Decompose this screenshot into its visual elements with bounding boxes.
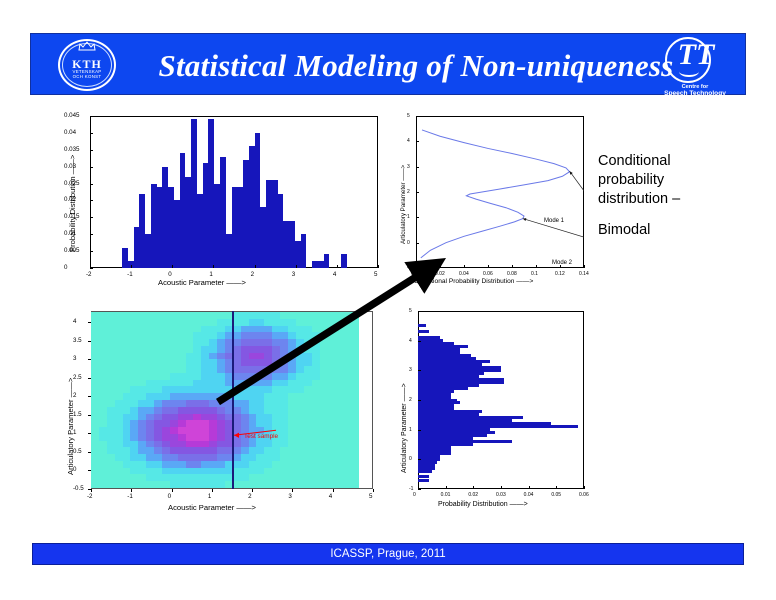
histogram-bar xyxy=(418,455,440,458)
axis-tick-mark xyxy=(90,150,93,151)
axis-tick-mark xyxy=(88,433,91,434)
axis-tick-mark xyxy=(418,311,421,312)
caption-line-1: Conditional xyxy=(598,152,768,171)
kth-logo-motto: VETENSKAP OCH KONST xyxy=(45,69,129,80)
x-tick-0: 0 xyxy=(411,271,414,277)
histogram-bar xyxy=(418,425,578,428)
axis-tick-mark xyxy=(88,396,91,397)
axis-tick-mark xyxy=(172,265,173,268)
x-tick-4: 4 xyxy=(329,493,332,500)
axis-tick-mark xyxy=(252,489,253,492)
x-tick-0: 0 xyxy=(168,271,171,278)
axis-tick-mark xyxy=(333,489,334,492)
axis-tick-mark xyxy=(446,486,447,489)
axis-tick-mark xyxy=(90,133,93,134)
histogram-bar xyxy=(418,324,426,327)
histogram-bar xyxy=(418,369,501,372)
histogram-bar xyxy=(418,413,479,416)
x-tick-5: 5 xyxy=(369,493,372,500)
histogram-bar xyxy=(418,407,454,410)
axis-tick-mark xyxy=(172,489,173,492)
y-tick-5: 5 xyxy=(407,113,410,119)
smile-icon xyxy=(679,66,699,77)
axis-tick-mark xyxy=(91,489,92,492)
axis-tick-mark xyxy=(212,489,213,492)
histogram-bar xyxy=(418,387,468,390)
caption-line-2: probability xyxy=(598,171,768,190)
x-tick-1: 1 xyxy=(209,271,212,278)
y-tick--1: -1 xyxy=(409,486,413,492)
joint-density-figure: Test sample -2-1012345 -0.500.511.522.53… xyxy=(58,305,398,530)
y-tick-1: 1 xyxy=(409,427,412,433)
ctt-tagline-line2: Speech Technology xyxy=(651,90,739,97)
histogram-bar xyxy=(418,339,443,342)
histogram-bar xyxy=(341,254,347,268)
x-tick--2: -2 xyxy=(87,493,93,500)
histogram-bar xyxy=(418,443,473,446)
axis-tick-mark xyxy=(373,489,374,492)
histogram-bar xyxy=(418,372,484,375)
conditional-probability-ylabel: Articulatory Parameter ——> xyxy=(400,165,407,244)
axis-tick-mark xyxy=(584,265,585,268)
histogram-bar xyxy=(418,351,460,354)
axis-tick-mark xyxy=(131,265,132,268)
slide-header-banner: KTH VETENSKAP OCH KONST Statistical Mode… xyxy=(30,33,746,95)
page-title: Statistical Modeling of Non-uniqueness xyxy=(141,38,691,94)
histogram-bar xyxy=(418,458,440,461)
histogram-bar xyxy=(418,375,479,378)
axis-tick-mark xyxy=(88,378,91,379)
articulatory-histogram-xlabel: Probability Distribution ——> xyxy=(438,501,528,508)
x-tick-3: 3 xyxy=(288,493,291,500)
y-tick-5: 5 xyxy=(409,308,412,314)
axis-tick-mark xyxy=(529,486,530,489)
test-sample-arrow xyxy=(91,311,373,489)
axis-tick-mark xyxy=(337,265,338,268)
acoustic-histogram-figure: -2-1012345 00.0050.010.0150.020.0250.030… xyxy=(58,112,388,297)
x-tick-0.1: 0.1 xyxy=(531,271,538,277)
histogram-bar xyxy=(418,345,468,348)
histogram-bar xyxy=(418,384,479,387)
histogram-bar xyxy=(418,330,429,333)
mode-annotation-arrows xyxy=(416,116,584,268)
histogram-bar xyxy=(418,357,476,360)
axis-tick-mark xyxy=(418,341,421,342)
x-tick--2: -2 xyxy=(86,271,92,278)
kth-logo: KTH VETENSKAP OCH KONST xyxy=(45,38,129,92)
acoustic-histogram-xlabel: Acoustic Parameter ——> xyxy=(158,278,246,287)
axis-tick-mark xyxy=(90,251,93,252)
y-tick--1: -1 xyxy=(407,265,411,271)
x-tick-0.04: 0.04 xyxy=(524,492,534,498)
histogram-bar xyxy=(418,354,471,357)
x-tick-3: 3 xyxy=(292,271,295,278)
x-tick--1: -1 xyxy=(127,493,133,500)
x-tick-0.02: 0.02 xyxy=(435,271,445,277)
axis-tick-mark xyxy=(418,400,421,401)
histogram-bar xyxy=(418,422,551,425)
axis-tick-mark xyxy=(88,489,91,490)
histogram-bar xyxy=(418,452,451,455)
axis-tick-mark xyxy=(88,415,91,416)
x-tick-1: 1 xyxy=(208,493,211,500)
conditional-probability-xlabel: Conditional Probability Distribution ——> xyxy=(414,278,533,285)
x-tick-4: 4 xyxy=(333,271,336,278)
x-tick-0.12: 0.12 xyxy=(555,271,565,277)
histogram-bar xyxy=(418,461,437,464)
x-tick-0.02: 0.02 xyxy=(468,492,478,498)
histogram-bar xyxy=(418,437,473,440)
y-tick-0.04: 0.04 xyxy=(64,129,76,136)
histogram-bar xyxy=(418,434,487,437)
histogram-bar xyxy=(418,342,454,345)
axis-tick-mark xyxy=(90,200,93,201)
histogram-bar xyxy=(418,428,490,431)
axis-tick-mark xyxy=(418,489,421,490)
caption-line-4: Bimodal xyxy=(598,221,768,240)
histogram-bar xyxy=(418,404,454,407)
axis-tick-mark xyxy=(90,234,93,235)
histogram-bar xyxy=(418,401,460,404)
axis-tick-mark xyxy=(90,217,93,218)
histogram-bar xyxy=(418,360,490,363)
mode-1-label: Mode 1 xyxy=(544,218,564,224)
histogram-bar xyxy=(418,479,429,482)
axis-tick-mark xyxy=(90,116,93,117)
joint-density-xlabel: Acoustic Parameter ——> xyxy=(168,503,256,512)
caption-line-3: distribution – xyxy=(598,190,768,209)
axis-tick-mark xyxy=(88,470,91,471)
mode-1-arrow xyxy=(570,171,584,196)
conditional-probability-figure: 00.020.040.060.080.10.120.14 -1012345 Mo… xyxy=(392,112,597,297)
axis-tick-mark xyxy=(416,268,419,269)
slide-footer-banner: ICASSP, Prague, 2011 xyxy=(32,543,744,565)
x-tick-0: 0 xyxy=(168,493,171,500)
x-tick-2: 2 xyxy=(251,271,254,278)
x-tick-0.04: 0.04 xyxy=(459,271,469,277)
histogram-bar xyxy=(418,419,512,422)
joint-density-ylabel: Articulatory Parameter ——> xyxy=(66,378,75,475)
mode-2-label: Mode 2 xyxy=(552,260,572,266)
y-tick-3: 3 xyxy=(73,355,76,362)
y-tick-3.5: 3.5 xyxy=(73,337,82,344)
axis-tick-mark xyxy=(90,184,93,185)
histogram-bar xyxy=(418,390,454,393)
histogram-bar xyxy=(418,378,504,381)
axis-tick-mark xyxy=(418,459,421,460)
histogram-bar xyxy=(324,254,330,268)
kth-motto-line2: OCH KONST xyxy=(45,74,129,79)
x-tick-5: 5 xyxy=(374,271,377,278)
y-tick-0: 0 xyxy=(407,240,410,246)
histogram-bar xyxy=(418,470,432,473)
y-tick--0.5: -0.5 xyxy=(73,485,84,492)
axis-tick-mark xyxy=(131,489,132,492)
axis-tick-mark xyxy=(90,268,93,269)
axis-tick-mark xyxy=(292,489,293,492)
y-tick-2: 2 xyxy=(407,189,410,195)
x-tick-0.03: 0.03 xyxy=(496,492,506,498)
histogram-bar xyxy=(418,363,482,366)
axis-tick-mark xyxy=(90,167,93,168)
axis-tick-mark xyxy=(584,486,585,489)
axis-tick-mark xyxy=(556,486,557,489)
axis-tick-mark xyxy=(88,322,91,323)
x-tick-0.06: 0.06 xyxy=(483,271,493,277)
crown-icon xyxy=(78,41,96,51)
histogram-bar xyxy=(418,348,460,351)
histogram-bar xyxy=(301,234,307,268)
y-tick-0.035: 0.035 xyxy=(64,146,79,153)
ctt-logo: TT Centre for Speech Technology xyxy=(643,35,739,95)
y-tick-0.045: 0.045 xyxy=(64,112,79,119)
axis-tick-mark xyxy=(418,430,421,431)
axis-tick-mark xyxy=(501,486,502,489)
axis-tick-mark xyxy=(213,265,214,268)
histogram-bar xyxy=(418,449,451,452)
histogram-bar xyxy=(418,446,451,449)
caption-block: Conditional probability distribution – B… xyxy=(598,152,768,240)
histogram-bar xyxy=(418,467,435,470)
y-tick-3: 3 xyxy=(409,367,412,373)
articulatory-histogram-figure: 00.010.020.030.040.050.06 -1012345 Proba… xyxy=(392,305,597,530)
histogram-bar xyxy=(418,396,451,399)
acoustic-histogram-ylabel: Probability Distribution ——> xyxy=(68,155,77,252)
axis-tick-mark xyxy=(88,341,91,342)
footer-text: ICASSP, Prague, 2011 xyxy=(330,548,445,560)
y-tick-0: 0 xyxy=(64,264,67,271)
histogram-bar xyxy=(418,431,495,434)
axis-tick-mark xyxy=(88,452,91,453)
axis-tick-mark xyxy=(378,265,379,268)
histogram-bar xyxy=(418,416,523,419)
y-tick-0: 0 xyxy=(409,456,412,462)
x-tick--1: -1 xyxy=(127,271,133,278)
histogram-bar xyxy=(418,410,482,413)
x-tick-0: 0 xyxy=(413,492,416,498)
axis-tick-mark xyxy=(296,265,297,268)
y-tick-4: 4 xyxy=(73,318,76,325)
histogram-bar xyxy=(418,336,440,339)
x-tick-0.08: 0.08 xyxy=(507,271,517,277)
histogram-bar xyxy=(418,475,429,478)
y-tick-4: 4 xyxy=(407,138,410,144)
y-tick-3: 3 xyxy=(407,164,410,170)
test-sample-label: Test sample xyxy=(244,433,278,440)
axis-tick-mark xyxy=(418,370,421,371)
axis-tick-mark xyxy=(255,265,256,268)
x-tick-0.14: 0.14 xyxy=(579,271,589,277)
y-tick-2: 2 xyxy=(409,397,412,403)
histogram-bar xyxy=(418,366,501,369)
x-tick-0.06: 0.06 xyxy=(579,492,589,498)
y-tick-1: 1 xyxy=(407,214,410,220)
articulatory-histogram-ylabel: Articulatory Parameter ——> xyxy=(401,383,408,473)
histogram-bar xyxy=(418,393,451,396)
axis-tick-mark xyxy=(88,359,91,360)
x-tick-0.05: 0.05 xyxy=(551,492,561,498)
histogram-bar xyxy=(418,464,435,467)
x-tick-0.01: 0.01 xyxy=(441,492,451,498)
x-tick-2: 2 xyxy=(248,493,251,500)
axis-tick-mark xyxy=(473,486,474,489)
histogram-bar xyxy=(418,440,512,443)
y-tick-4: 4 xyxy=(409,338,412,344)
histogram-bar xyxy=(418,381,504,384)
histogram-bar xyxy=(418,399,457,402)
